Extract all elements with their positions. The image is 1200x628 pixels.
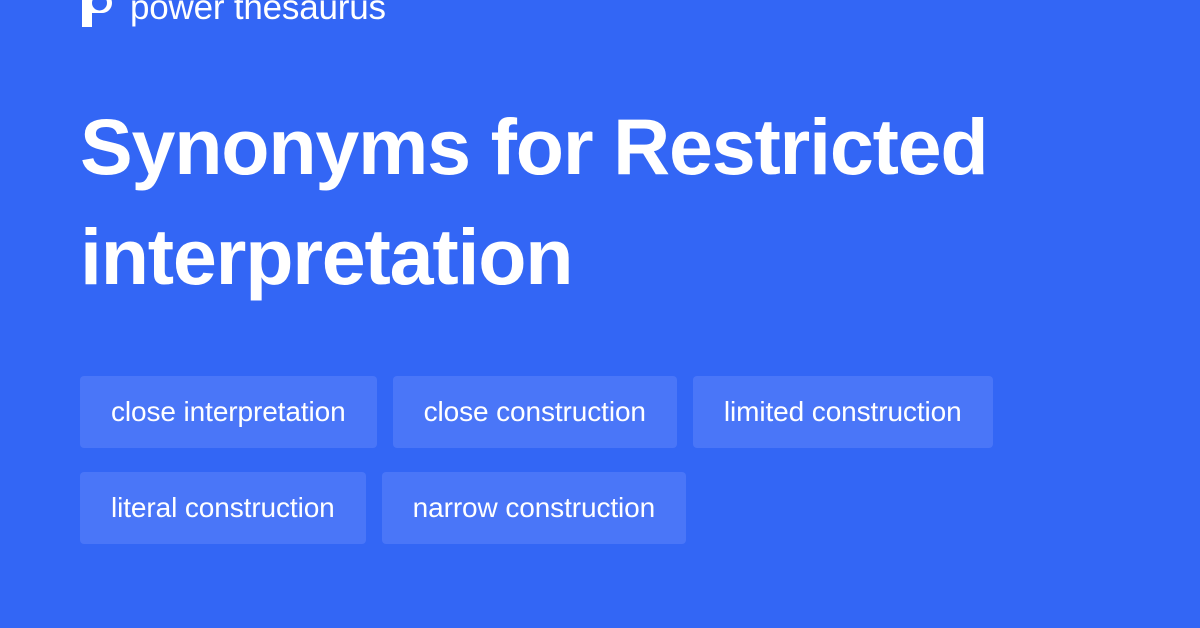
power-thesaurus-logo-icon <box>78 0 116 27</box>
brand-name: power thesaurus <box>130 0 386 27</box>
brand-header[interactable]: power thesaurus <box>78 0 386 30</box>
synonym-chip[interactable]: close interpretation <box>80 376 377 448</box>
synonym-chip[interactable]: close construction <box>393 376 677 448</box>
synonym-chip[interactable]: literal construction <box>80 472 366 544</box>
page-title: Synonyms for Restricted interpretation <box>80 92 1090 312</box>
share-card: power thesaurus Synonyms for Restricted … <box>0 0 1200 628</box>
synonym-list: close interpretation close construction … <box>80 376 1140 544</box>
synonym-chip[interactable]: narrow construction <box>382 472 686 544</box>
synonym-chip[interactable]: limited construction <box>693 376 993 448</box>
